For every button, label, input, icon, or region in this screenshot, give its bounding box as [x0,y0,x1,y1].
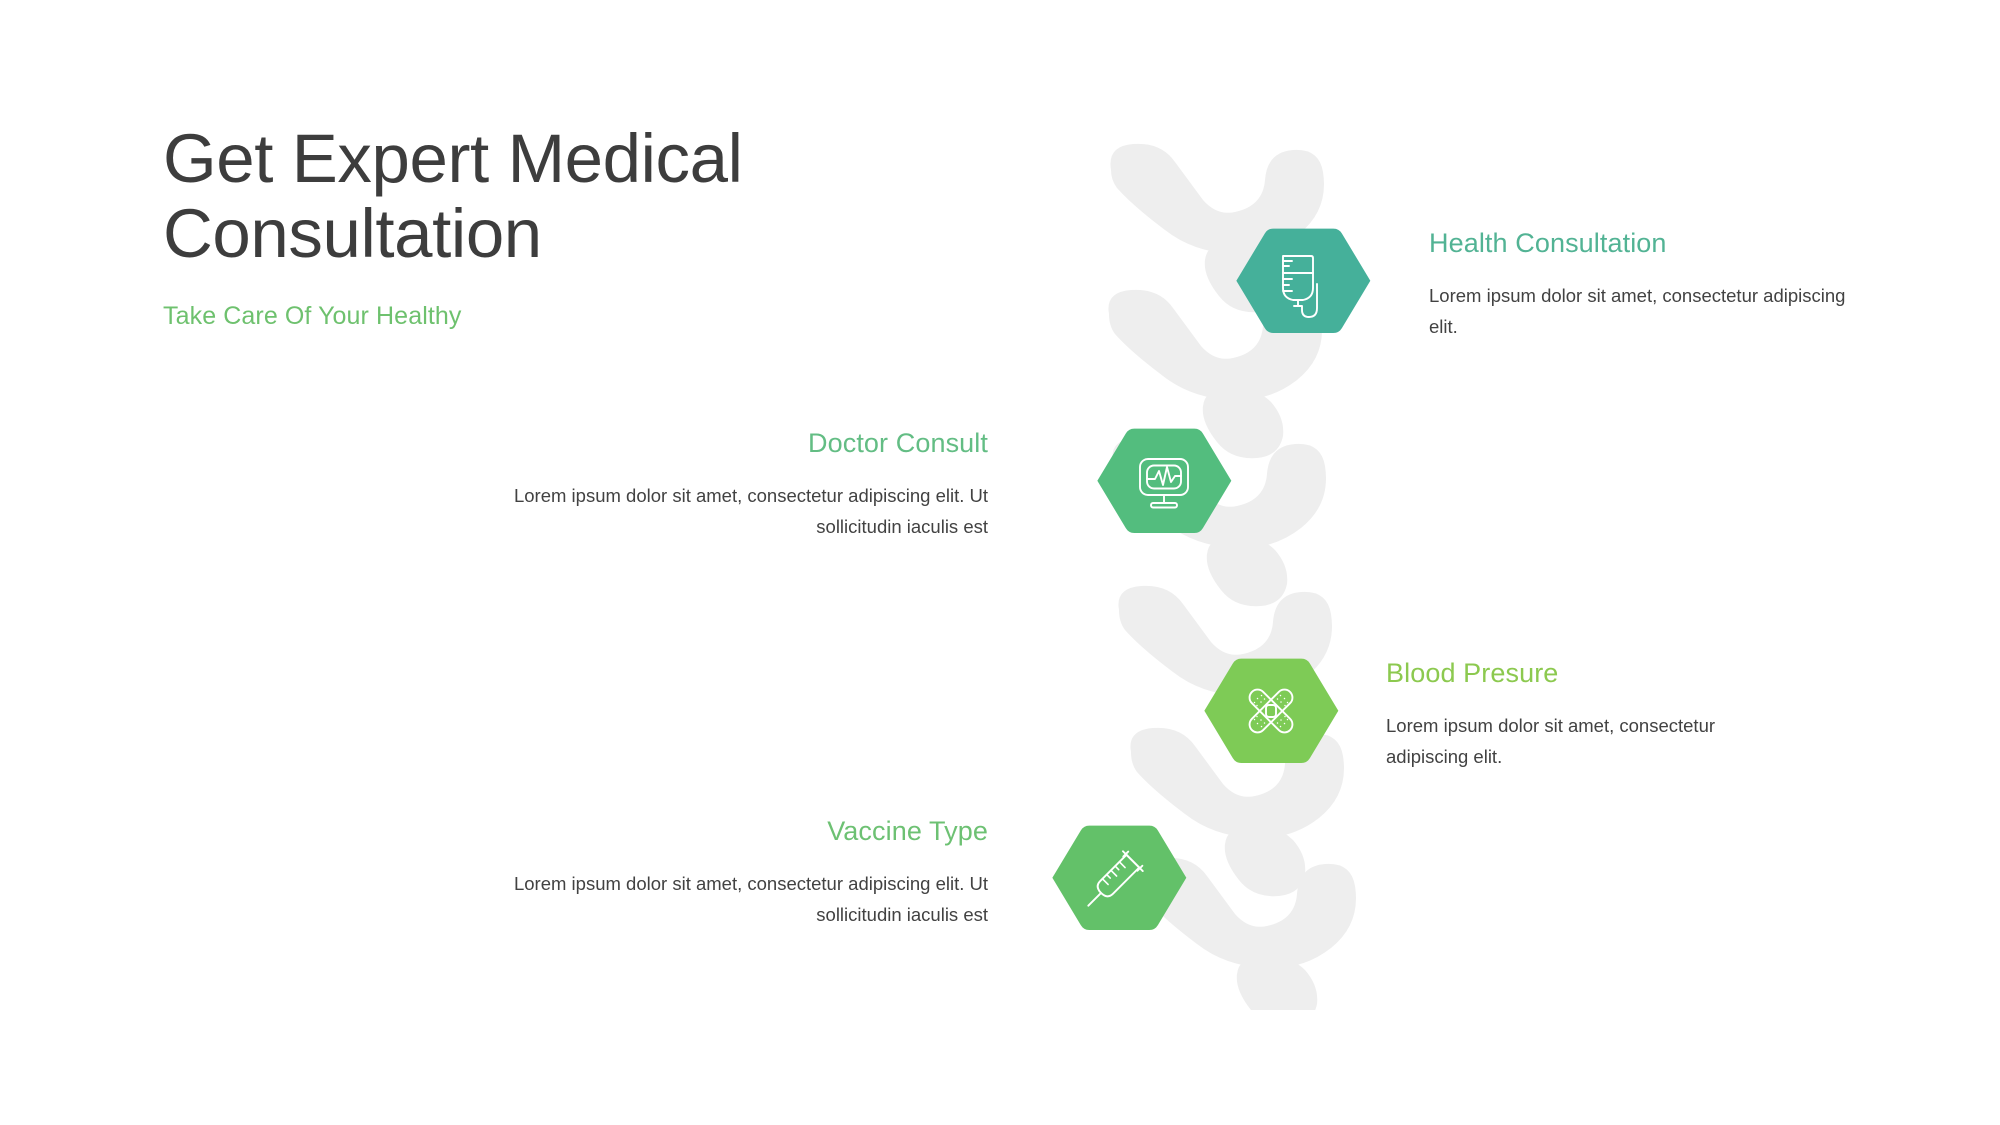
feature-body: Lorem ipsum dolor sit amet, consectetur … [448,868,988,930]
feature-title: Vaccine Type [448,815,988,847]
feature-doctor-consult: Doctor Consult Lorem ipsum dolor sit ame… [448,427,988,543]
feature-health-consultation: Health Consultation Lorem ipsum dolor si… [1429,227,1859,343]
feature-blood-presure: Blood Presure Lorem ipsum dolor sit amet… [1386,657,1786,773]
hex-badge-doctor-consult[interactable] [1093,419,1235,543]
slide-canvas: Get Expert Medical Consultation Take Car… [0,0,2000,1125]
feature-body: Lorem ipsum dolor sit amet, consectetur … [1429,280,1859,342]
hexagon-shape [1204,659,1338,763]
feature-title: Doctor Consult [448,427,988,459]
heading-block: Get Expert Medical Consultation Take Car… [163,122,943,331]
feature-title: Health Consultation [1429,227,1859,259]
feature-body: Lorem ipsum dolor sit amet, consectetur … [1386,710,1786,772]
hexagon-shape [1052,826,1186,930]
feature-title: Blood Presure [1386,657,1786,689]
feature-body: Lorem ipsum dolor sit amet, consectetur … [448,480,988,542]
hex-badge-blood-presure[interactable] [1200,649,1342,773]
page-title: Get Expert Medical Consultation [163,122,943,271]
feature-vaccine-type: Vaccine Type Lorem ipsum dolor sit amet,… [448,815,988,931]
page-subtitle: Take Care Of Your Healthy [163,302,943,331]
hex-badge-health-consultation[interactable] [1232,219,1374,343]
hex-badge-vaccine-type[interactable] [1048,816,1190,940]
hexagon-shape [1236,229,1370,333]
